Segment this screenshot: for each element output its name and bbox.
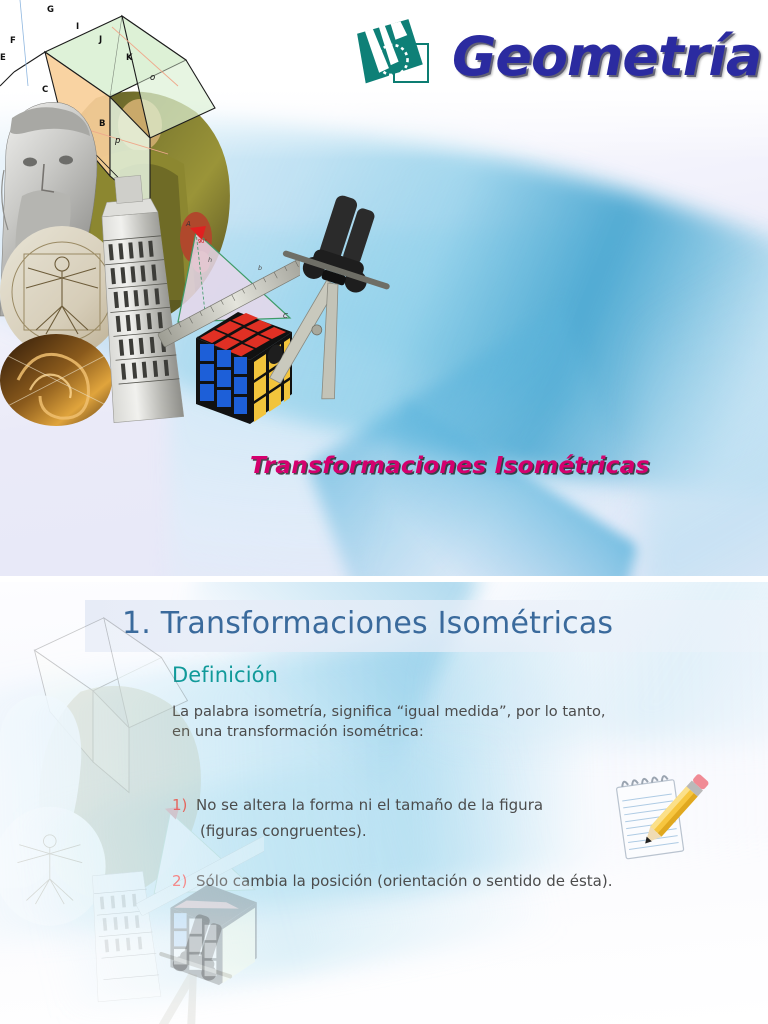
slide1-subtitle: Transformaciones Isométricas: [250, 451, 650, 479]
background-swoosh-f: [640, 120, 768, 576]
geometry-notebook-logo-icon: [352, 14, 448, 100]
svg-text:G: G: [47, 5, 54, 15]
svg-text:J: J: [98, 35, 102, 45]
svg-text:90°: 90°: [198, 239, 207, 245]
geometry-collage-watermark: [0, 600, 264, 1024]
notepad-pencil-icon: [605, 770, 713, 866]
svg-text:I: I: [76, 22, 79, 32]
svg-text:A: A: [185, 220, 191, 228]
drafting-compass-icon: [248, 192, 408, 412]
svg-text:E: E: [0, 53, 6, 63]
svg-text:h: h: [208, 256, 212, 264]
svg-text:F: F: [10, 36, 16, 46]
brand-header: Geometría: [352, 14, 761, 100]
svg-text:B: B: [99, 119, 105, 129]
svg-text:C: C: [42, 85, 48, 95]
slide-1: G I J K F E C B o p: [0, 0, 768, 576]
nautilus-spiral-icon: [0, 332, 120, 432]
background-swoosh-e: [362, 400, 637, 576]
svg-text:p: p: [114, 136, 120, 146]
presentation-page: G I J K F E C B o p: [0, 0, 768, 1024]
svg-text:K: K: [126, 53, 133, 63]
brand-title: Geometría: [452, 30, 761, 84]
svg-text:o: o: [150, 73, 155, 83]
